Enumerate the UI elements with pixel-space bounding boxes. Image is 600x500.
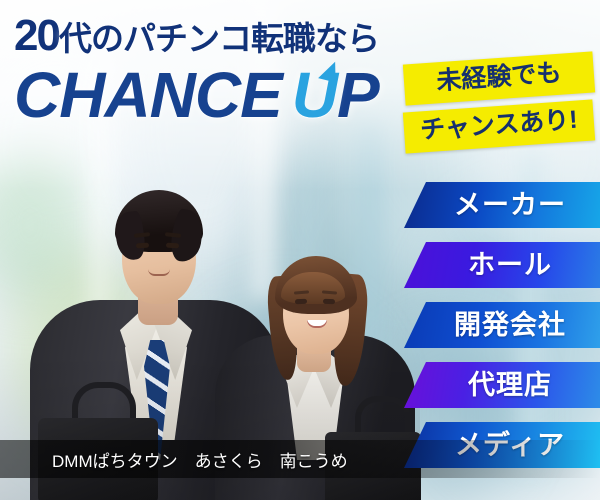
male-mouth <box>148 269 170 276</box>
banner-ad[interactable]: 20代のパチンコ転職なら CHANCEUP 未経験でも チャンスあり! メーカー… <box>0 0 600 500</box>
logo-word-chance: CHANCE <box>14 59 282 131</box>
highlight-badges: 未経験でも チャンスあり! <box>404 58 594 147</box>
logo-letter-p: P <box>337 59 379 131</box>
logo-chance-up: CHANCEUP <box>14 63 379 127</box>
badge-no-experience: 未経験でも <box>403 51 595 105</box>
credit-text: DMMぱちタウン あさくら 南こうめ <box>0 447 348 472</box>
category-button-developer[interactable]: 開発会社 <box>404 302 600 348</box>
headline-text: 代のパチンコ転職 <box>59 20 315 57</box>
category-button-hall[interactable]: ホール <box>404 242 600 288</box>
category-label: ホール <box>452 252 552 279</box>
female-eye-left <box>295 299 307 305</box>
credit-bar: DMMぱちタウン あさくら 南こうめ <box>0 440 600 478</box>
logo-word-up: UP <box>292 63 379 127</box>
category-button-maker[interactable]: メーカー <box>404 182 600 228</box>
category-label: メーカー <box>438 192 566 219</box>
headline-suffix: なら <box>315 20 379 57</box>
male-eye-right <box>166 243 179 249</box>
male-eye-left <box>136 243 149 249</box>
category-label: 代理店 <box>452 372 552 399</box>
headline: 20代のパチンコ転職なら <box>14 14 414 58</box>
category-button-agency[interactable]: 代理店 <box>404 362 600 408</box>
category-button-list: メーカー ホール 開発会社 代理店 メディア <box>404 182 600 482</box>
headline-number: 20 <box>14 11 59 60</box>
female-eye-right <box>323 299 335 305</box>
badge-chance-available: チャンスあり! <box>403 99 595 153</box>
category-label: 開発会社 <box>438 312 566 339</box>
